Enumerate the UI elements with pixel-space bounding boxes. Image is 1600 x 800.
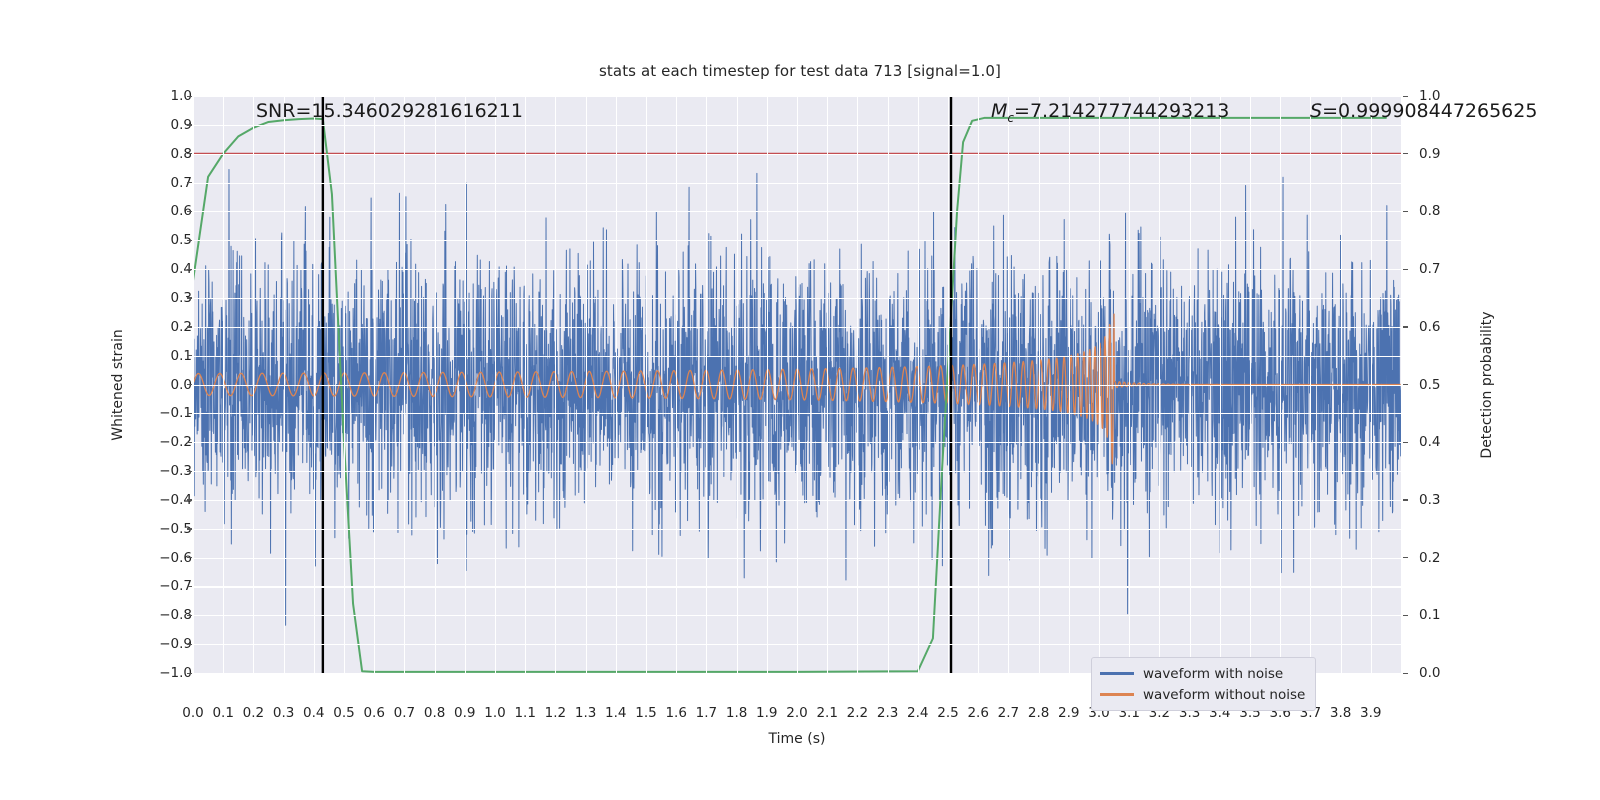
mc-equals: = [1014,100,1030,122]
gridline-vertical [857,96,858,673]
gridline-vertical [193,96,194,673]
y-axis-right-label: Detection probability [1479,311,1495,458]
y-axis-left-label: Whitened strain [110,329,126,440]
gridline-vertical [223,96,224,673]
x-axis-tick-label: 2.8 [1028,705,1049,721]
x-axis-tick-label: 0.7 [394,705,415,721]
x-axis-tick-label: 1.1 [514,705,535,721]
y-axis-right-tick-label: 0.9 [1419,146,1440,162]
snr-label: SNR= [256,100,311,122]
x-axis-tick-label: 2.1 [816,705,837,721]
x-axis-tick-label: 1.6 [665,705,686,721]
x-axis-tick-label: 0.6 [363,705,384,721]
gridline-vertical [676,96,677,673]
y-axis-left-tick-mark [187,615,192,616]
plot-area [193,96,1401,673]
gridline-vertical [918,96,919,673]
s-equals: = [1322,100,1338,122]
gridline-vertical [1008,96,1009,673]
gridline-vertical [314,96,315,673]
snr-value: 15.346029281616211 [311,100,523,122]
figure: stats at each timestep for test data 713… [0,0,1600,800]
y-axis-right-tick-label: 0.8 [1419,203,1440,219]
x-axis-tick-label: 2.4 [907,705,928,721]
y-axis-left-tick-mark [187,182,192,183]
y-axis-left-tick-mark [187,442,192,443]
gridline-vertical [737,96,738,673]
legend-item: waveform with noise [1100,663,1305,684]
gridline-vertical [435,96,436,673]
legend-color-swatch [1100,672,1134,675]
y-axis-right-tick-label: 0.2 [1419,550,1440,566]
gridline-vertical [465,96,466,673]
x-axis-tick-label: 0.9 [454,705,475,721]
gridline-vertical [1159,96,1160,673]
y-axis-left-tick-mark [187,557,192,558]
gridline-vertical [827,96,828,673]
y-axis-right-tick-mark [1403,499,1408,500]
y-axis-right-tick-label: 0.3 [1419,492,1440,508]
annotation-chirp-mass: Mc=7.214277744293213 [991,100,1229,125]
gridline-vertical [284,96,285,673]
y-axis-right-tick-mark [1403,269,1408,270]
y-axis-right-tick-label: 0.4 [1419,434,1440,450]
y-axis-right-tick-mark [1403,615,1408,616]
y-axis-right-tick-mark [1403,442,1408,443]
gridline-vertical [1220,96,1221,673]
y-axis-right-tick-label: 0.7 [1419,261,1440,277]
gridline-vertical [404,96,405,673]
x-axis-tick-label: 0.3 [273,705,294,721]
x-axis-tick-label: 2.6 [967,705,988,721]
annotation-signal-score: S=0.999908447265625 [1310,100,1537,122]
x-axis-tick-label: 0.1 [212,705,233,721]
gridline-vertical [1069,96,1070,673]
y-axis-right-tick-mark [1403,153,1408,154]
y-axis-left-tick-mark [187,211,192,212]
y-axis-right-tick-mark [1403,96,1408,97]
gridline-vertical [767,96,768,673]
gridline-vertical [1129,96,1130,673]
gridline-vertical [495,96,496,673]
x-axis-tick-label: 1.7 [696,705,717,721]
x-axis-tick-label: 0.2 [243,705,264,721]
annotation-snr: SNR=15.346029281616211 [256,100,523,122]
x-axis-tick-label: 0.0 [182,705,203,721]
y-axis-left-tick-mark [187,471,192,472]
legend-label: waveform with noise [1143,666,1283,682]
x-axis-tick-label: 2.2 [847,705,868,721]
gridline-vertical [525,96,526,673]
x-axis-tick-label: 1.5 [635,705,656,721]
y-axis-left-tick-mark [187,673,192,674]
x-axis-label: Time (s) [769,731,826,747]
x-axis-tick-label: 1.0 [484,705,505,721]
gridline-vertical [1250,96,1251,673]
y-axis-right-tick-label: 0.5 [1419,377,1440,393]
y-axis-left-tick-mark [187,644,192,645]
x-axis-tick-label: 3.8 [1330,705,1351,721]
s-value: 0.999908447265625 [1338,100,1537,122]
mc-value: 7.214277744293213 [1030,100,1229,122]
gridline-vertical [344,96,345,673]
gridline-vertical [1341,96,1342,673]
gridline-vertical [1099,96,1100,673]
y-axis-right-tick-label: 0.0 [1419,665,1440,681]
x-axis-tick-label: 0.4 [303,705,324,721]
y-axis-left-tick-mark [187,413,192,414]
gridline-vertical [1039,96,1040,673]
gridline-vertical [253,96,254,673]
x-axis-tick-label: 3.9 [1360,705,1381,721]
x-axis-tick-label: 2.3 [877,705,898,721]
y-axis-right-tick-mark [1403,673,1408,674]
y-axis-left-tick-mark [187,528,192,529]
gridline-vertical [646,96,647,673]
gridline-vertical [1310,96,1311,673]
gridline-vertical [1371,96,1372,673]
y-axis-left-tick-mark [187,326,192,327]
gridline-vertical [1190,96,1191,673]
x-axis-tick-label: 0.8 [424,705,445,721]
y-axis-left-tick-mark [187,297,192,298]
y-axis-right-tick-mark [1403,211,1408,212]
x-axis-tick-label: 1.3 [575,705,596,721]
gridline-vertical [978,96,979,673]
legend-item: waveform without noise [1100,684,1305,705]
y-axis-left-tick-mark [187,124,192,125]
gridline-vertical [888,96,889,673]
x-axis-tick-label: 1.8 [726,705,747,721]
legend-color-swatch [1100,693,1134,696]
y-axis-left-tick-mark [187,355,192,356]
y-axis-left-tick-mark [187,269,192,270]
gridline-vertical [586,96,587,673]
x-axis-tick-label: 1.4 [605,705,626,721]
y-axis-left-tick-mark [187,96,192,97]
gridline-vertical [374,96,375,673]
x-axis-tick-label: 2.9 [1058,705,1079,721]
x-axis-tick-label: 2.7 [998,705,1019,721]
legend: waveform with noisewaveform without nois… [1091,657,1316,711]
x-axis-tick-label: 2.0 [786,705,807,721]
y-axis-right-tick-mark [1403,557,1408,558]
legend-label: waveform without noise [1143,687,1305,703]
y-axis-right-tick-mark [1403,326,1408,327]
x-axis-tick-label: 2.5 [937,705,958,721]
y-axis-left-tick-mark [187,586,192,587]
chart-title: stats at each timestep for test data 713… [0,62,1600,80]
x-axis-tick-label: 1.9 [756,705,777,721]
gridline-vertical [555,96,556,673]
y-axis-left-tick-mark [187,240,192,241]
y-axis-left-tick-mark [187,499,192,500]
gridline-vertical [1280,96,1281,673]
y-axis-right-tick-label: 0.1 [1419,607,1440,623]
y-axis-right-tick-label: 0.6 [1419,319,1440,335]
gridline-vertical [948,96,949,673]
gridline-vertical [797,96,798,673]
y-axis-left-tick-mark [187,153,192,154]
x-axis-tick-label: 0.5 [333,705,354,721]
y-axis-right-tick-mark [1403,384,1408,385]
gridline-vertical [616,96,617,673]
mc-symbol: M [991,100,1007,122]
x-axis-tick-label: 1.2 [545,705,566,721]
gridline-vertical [706,96,707,673]
s-symbol: S [1310,100,1322,122]
y-axis-left-tick-mark [187,384,192,385]
